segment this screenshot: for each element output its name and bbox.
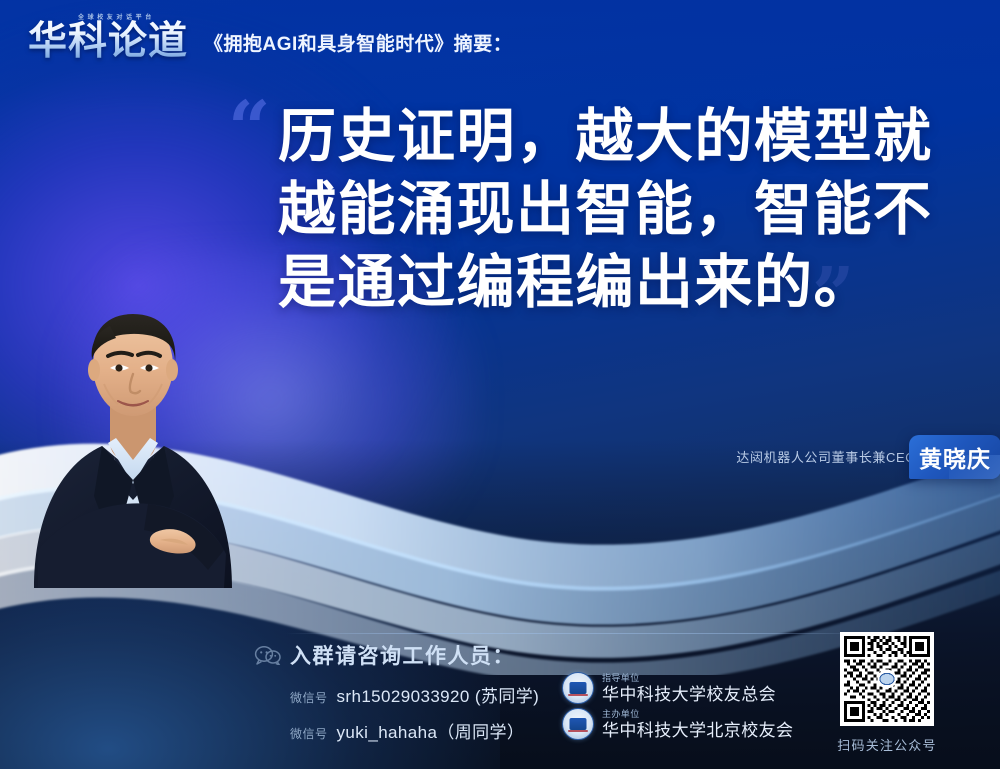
- footer-divider: [286, 633, 866, 634]
- quote-close-mark: ”: [812, 258, 855, 332]
- quote-line-3: 是通过编程编出来的。: [278, 246, 958, 319]
- wechat-contact-row: 微信号 srh15029033920 (苏同学): [290, 682, 539, 707]
- speaker-name-badge: 黄晓庆: [909, 435, 1000, 479]
- organization-row: 指导单位 华中科技大学校友总会: [562, 672, 776, 704]
- university-seal-icon: [562, 672, 594, 704]
- brand-logo[interactable]: 全球校友对话平台 华科论道: [28, 14, 188, 61]
- organization-name: 华中科技大学校友总会: [602, 686, 776, 703]
- speaker-name: 黄晓庆: [919, 440, 991, 474]
- page-title: 《拥抱AGI和具身智能时代》摘要：: [204, 29, 512, 61]
- speaker-role: 达闼机器人公司董事长兼CEO: [736, 447, 916, 466]
- qr-code-icon[interactable]: [840, 632, 934, 726]
- quote-text: 历史证明，越大的模型就 越能涌现出智能，智能不 是通过编程编出来的。: [278, 100, 958, 319]
- quote-open-mark: “: [228, 92, 271, 166]
- brand-logo-text: 华科论道: [28, 14, 188, 61]
- organization-row: 主办单位 华中科技大学北京校友会: [562, 708, 793, 740]
- speaker-portrait: [28, 288, 242, 588]
- qr-block: 扫码关注公众号: [833, 632, 941, 754]
- wechat-icon: [254, 645, 282, 665]
- wechat-id[interactable]: srh15029033920 (苏同学): [337, 682, 540, 707]
- qr-caption: 扫码关注公众号: [833, 735, 941, 754]
- quote-line-2: 越能涌现出智能，智能不: [278, 173, 958, 246]
- footer-heading: 入群请咨询工作人员：: [290, 640, 515, 670]
- quote-line-1: 历史证明，越大的模型就: [278, 100, 958, 173]
- wechat-contact-row: 微信号 yuki_hahaha（周同学）: [290, 718, 524, 743]
- wechat-label: 微信号: [290, 689, 328, 706]
- organization-kind: 主办单位: [602, 710, 793, 719]
- wechat-label: 微信号: [290, 725, 328, 742]
- wechat-id[interactable]: yuki_hahaha（周同学）: [337, 718, 525, 743]
- attribution: 达闼机器人公司董事长兼CEO: [736, 447, 916, 466]
- organization-kind: 指导单位: [602, 674, 776, 683]
- header: 全球校友对话平台 华科论道 《拥抱AGI和具身智能时代》摘要：: [28, 14, 512, 61]
- poster-canvas: 全球校友对话平台 华科论道 《拥抱AGI和具身智能时代》摘要： “ 历史证明，越…: [0, 0, 1000, 769]
- university-seal-icon: [562, 708, 594, 740]
- organization-name: 华中科技大学北京校友会: [602, 722, 793, 739]
